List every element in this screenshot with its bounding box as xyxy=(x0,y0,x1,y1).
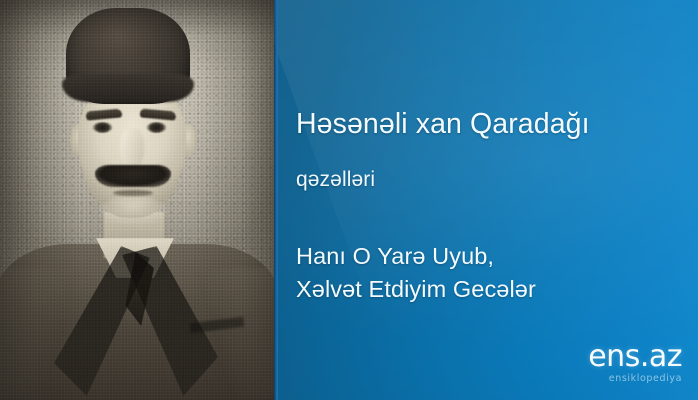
poem-title: Hanı O Yarə Uyub, Xəlvət Etdiyim Gecələr xyxy=(296,240,536,306)
logo-tagline: ensiklopediya xyxy=(550,373,682,384)
poem-title-line-1: Hanı O Yarə Uyub, xyxy=(296,240,536,273)
subtitle: qəzəlləri xyxy=(296,168,375,192)
logo-wordmark: ens.az xyxy=(550,342,682,372)
article-banner-card: Həsənəli xan Qaradağı qəzəlləri Hanı O Y… xyxy=(0,0,698,400)
portrait-photo xyxy=(0,0,274,400)
site-logo[interactable]: ens.az ensiklopediya xyxy=(550,342,682,388)
photo-edge-divider xyxy=(274,0,278,400)
photo-sepia-tone xyxy=(0,0,274,400)
poem-title-line-2: Xəlvət Etdiyim Gecələr xyxy=(296,273,536,306)
page-title: Həsənəli xan Qaradağı xyxy=(296,108,590,141)
